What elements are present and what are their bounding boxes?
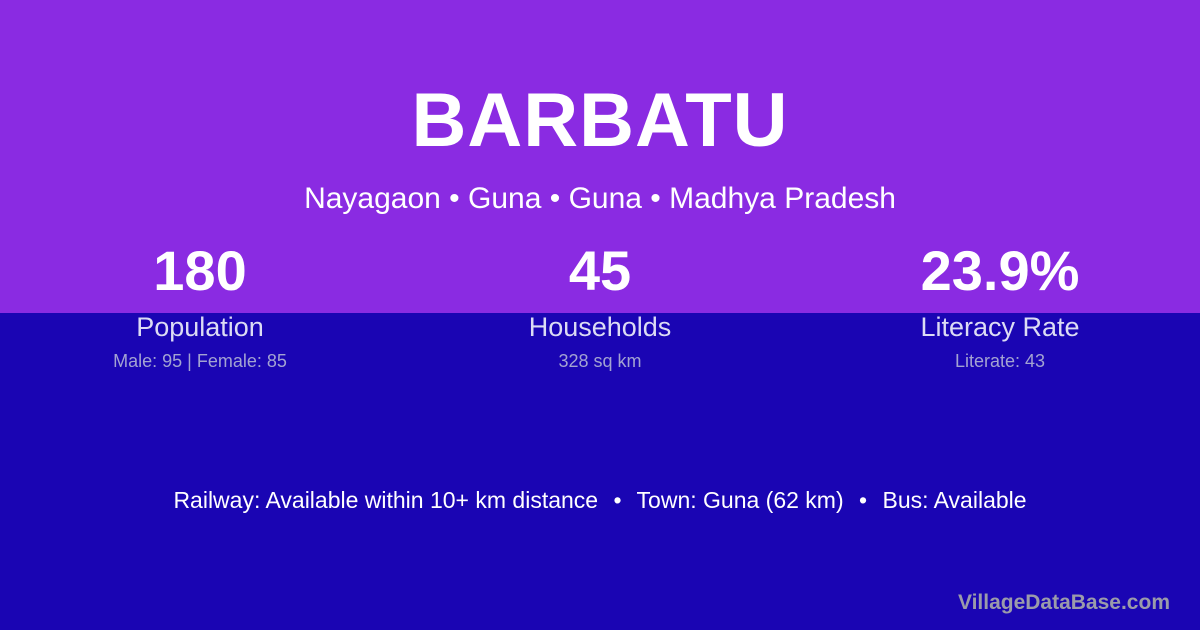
stat-label: Literacy Rate [920,313,1079,343]
site-brand-watermark: VillageDataBase.com [958,590,1170,615]
page-title: BARBATU [0,83,1200,159]
stat-subtext: Male: 95 | Female: 85 [113,352,287,372]
village-info-card: BARBATU Nayagaon • Guna • Guna • Madhya … [0,0,1200,630]
stat-value: 23.9% [921,243,1080,305]
stat-subtext: Literate: 43 [955,352,1045,372]
stat-households: 45 Households 328 sq km [400,243,800,383]
stat-value: 45 [569,243,631,305]
infra-town: Town: Guna (62 km) [637,487,844,513]
bullet-separator-icon: • [850,487,876,515]
infra-railway: Railway: Available within 10+ km distanc… [173,487,598,513]
stat-value: 180 [153,243,246,305]
bullet-separator-icon: • [605,487,631,515]
stats-row: 180 Population Male: 95 | Female: 85 45 … [0,243,1200,383]
infrastructure-line: Railway: Available within 10+ km distanc… [0,487,1200,515]
stat-label: Population [136,313,264,343]
breadcrumb: Nayagaon • Guna • Guna • Madhya Pradesh [0,182,1200,215]
stat-subtext: 328 sq km [558,352,641,372]
stat-literacy-rate: 23.9% Literacy Rate Literate: 43 [800,243,1200,383]
stat-label: Households [529,313,672,343]
infra-bus: Bus: Available [882,487,1026,513]
stat-population: 180 Population Male: 95 | Female: 85 [0,243,400,383]
